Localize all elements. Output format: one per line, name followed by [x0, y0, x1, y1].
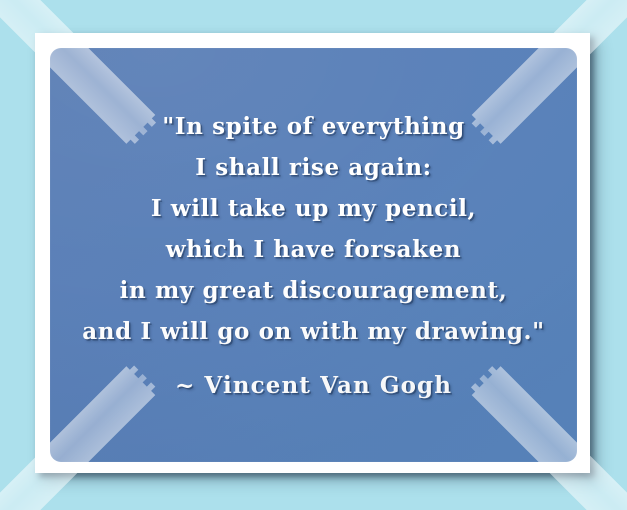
- quote-line-3: I will take up my pencil,: [64, 188, 563, 229]
- photo-frame: "In spite of everything I shall rise aga…: [35, 33, 590, 473]
- quote-line-2: I shall rise again:: [64, 147, 563, 188]
- quote-line-5: in my great discouragement,: [64, 270, 563, 311]
- quote-line-4: which I have forsaken: [64, 229, 563, 270]
- quote-line-1: "In spite of everything: [64, 106, 563, 147]
- quote-image-canvas: "In spite of everything I shall rise aga…: [0, 0, 627, 510]
- quote-line-6: and I will go on with my drawing.": [64, 311, 563, 352]
- quote-card: "In spite of everything I shall rise aga…: [50, 48, 577, 462]
- quote-text-block: "In spite of everything I shall rise aga…: [50, 106, 577, 406]
- quote-attribution: ~ Vincent Van Gogh: [64, 365, 563, 406]
